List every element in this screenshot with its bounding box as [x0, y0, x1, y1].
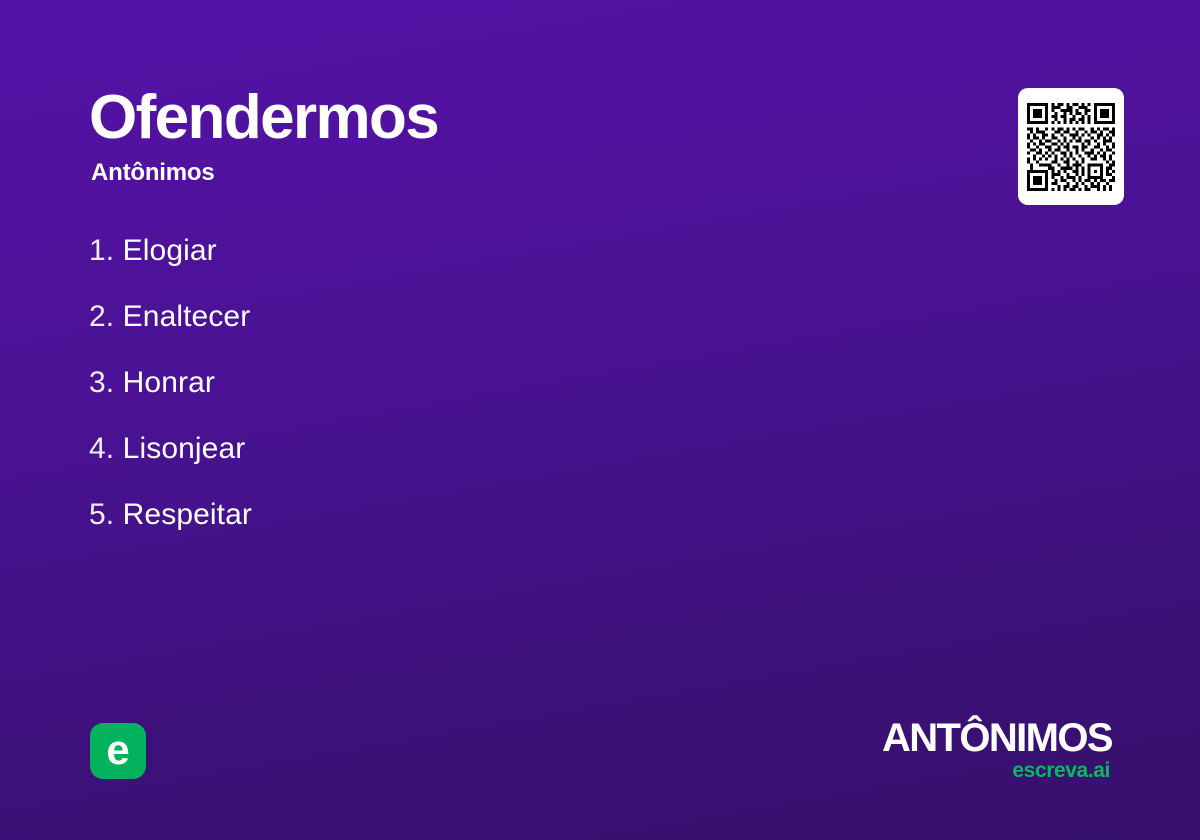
page-subtitle: Antônimos: [91, 159, 949, 187]
list-item: 1. Elogiar: [89, 236, 849, 266]
list-item-label: Enaltecer: [123, 300, 251, 333]
list-item: 5. Respeitar: [89, 500, 849, 530]
list-item-index: 3.: [89, 366, 114, 399]
escreva-e-logo-icon: e: [90, 723, 146, 779]
list-item-index: 1.: [89, 234, 114, 267]
list-item-index: 2.: [89, 300, 114, 333]
footer-brand-name: ANTÔNIMOS: [782, 718, 1112, 758]
qr-code-panel[interactable]: [1018, 88, 1124, 205]
list-item: 3. Honrar: [89, 368, 849, 398]
footer-brand-site: escreva.ai: [782, 760, 1110, 781]
list-item: 4. Lisonjear: [89, 434, 849, 464]
footer-brand: ANTÔNIMOS escreva.ai: [782, 718, 1112, 781]
antonym-card: Ofendermos Antônimos: [0, 0, 1200, 840]
list-item-label: Honrar: [123, 366, 215, 399]
card-header: Ofendermos Antônimos: [89, 86, 949, 187]
list-item-label: Respeitar: [123, 498, 252, 531]
list-item-label: Lisonjear: [123, 432, 246, 465]
logo-letter: e: [106, 729, 129, 771]
qr-code-icon: [1027, 103, 1115, 191]
page-title: Ofendermos: [89, 86, 949, 149]
list-item: 2. Enaltecer: [89, 302, 849, 332]
antonym-list: 1. Elogiar 2. Enaltecer 3. Honrar 4. Lis…: [89, 236, 849, 530]
list-item-index: 5.: [89, 498, 114, 531]
list-item-label: Elogiar: [123, 234, 217, 267]
list-item-index: 4.: [89, 432, 114, 465]
